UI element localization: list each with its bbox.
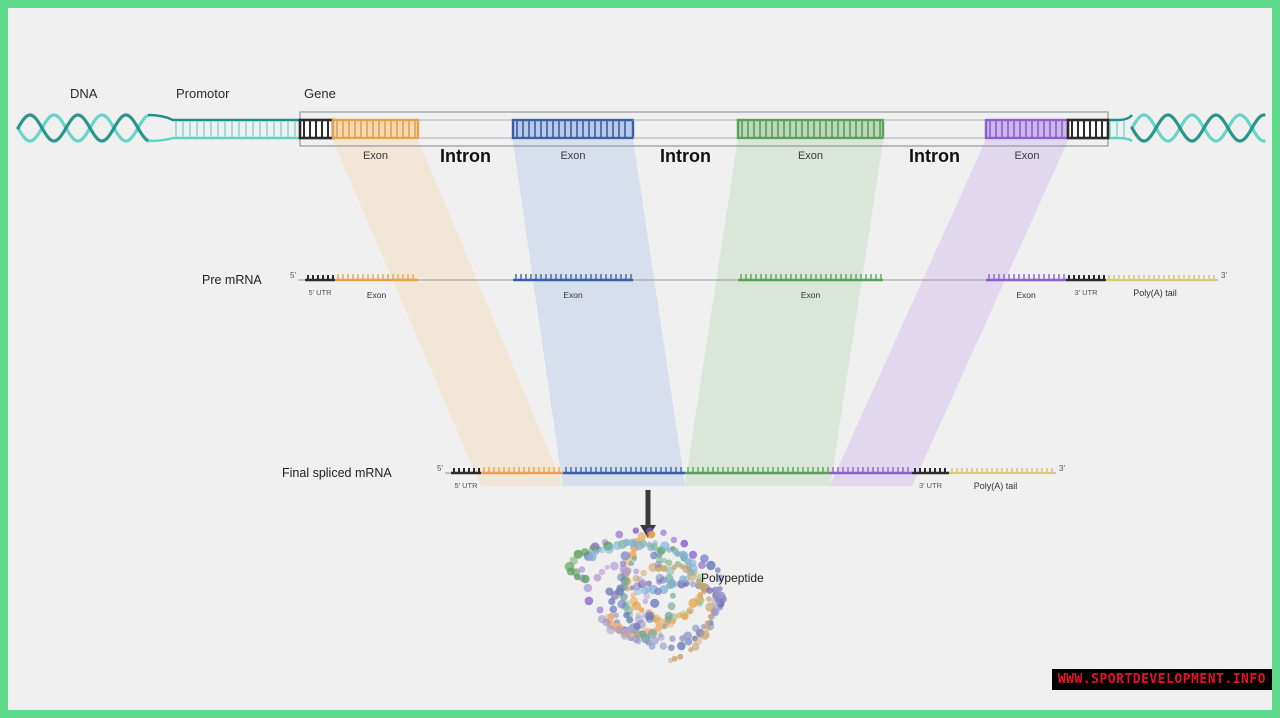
- intron-1-label-dna: Intron: [440, 146, 491, 167]
- exon-1-label-dna: Exon: [363, 150, 388, 162]
- exon-4-label-pre: Exon: [1016, 290, 1035, 300]
- exon-3-label-dna: Exon: [798, 150, 823, 162]
- utr3-label-pre: 3' UTR: [1074, 288, 1097, 297]
- utr5-label-fin: 5' UTR: [454, 481, 477, 490]
- final-mrna-label: Final spliced mRNA: [282, 466, 392, 480]
- dna-label: DNA: [70, 86, 97, 101]
- exon-2-label-pre: Exon: [563, 290, 582, 300]
- promotor-label: Promotor: [176, 86, 229, 101]
- intron-2-label-dna: Intron: [660, 146, 711, 167]
- polypeptide-graphics: [8, 8, 1272, 710]
- utr3-label-fin: 3' UTR: [919, 481, 942, 490]
- five-prime-pre: 5': [290, 271, 296, 280]
- gene-label: Gene: [304, 86, 336, 101]
- polya-label-fin: Poly(A) tail: [974, 481, 1018, 491]
- diagram-canvas: DNA Promotor Gene Pre mRNA Final spliced…: [8, 8, 1272, 710]
- five-prime-fin: 5': [437, 464, 443, 473]
- three-prime-pre: 3': [1221, 271, 1227, 280]
- exon-2-label-dna: Exon: [560, 150, 585, 162]
- three-prime-fin: 3': [1059, 464, 1065, 473]
- intron-3-label-dna: Intron: [909, 146, 960, 167]
- polya-label-pre: Poly(A) tail: [1133, 288, 1177, 298]
- pre-mrna-label: Pre mRNA: [202, 273, 262, 287]
- exon-4-label-dna: Exon: [1014, 150, 1039, 162]
- diagram-frame: DNA Promotor Gene Pre mRNA Final spliced…: [8, 8, 1272, 710]
- exon-1-label-pre: Exon: [367, 290, 386, 300]
- watermark: WWW.SPORTDEVELOPMENT.INFO: [1052, 669, 1272, 690]
- exon-3-label-pre: Exon: [801, 290, 820, 300]
- polypeptide-label: Polypeptide: [701, 571, 764, 585]
- utr5-label-pre: 5' UTR: [308, 288, 331, 297]
